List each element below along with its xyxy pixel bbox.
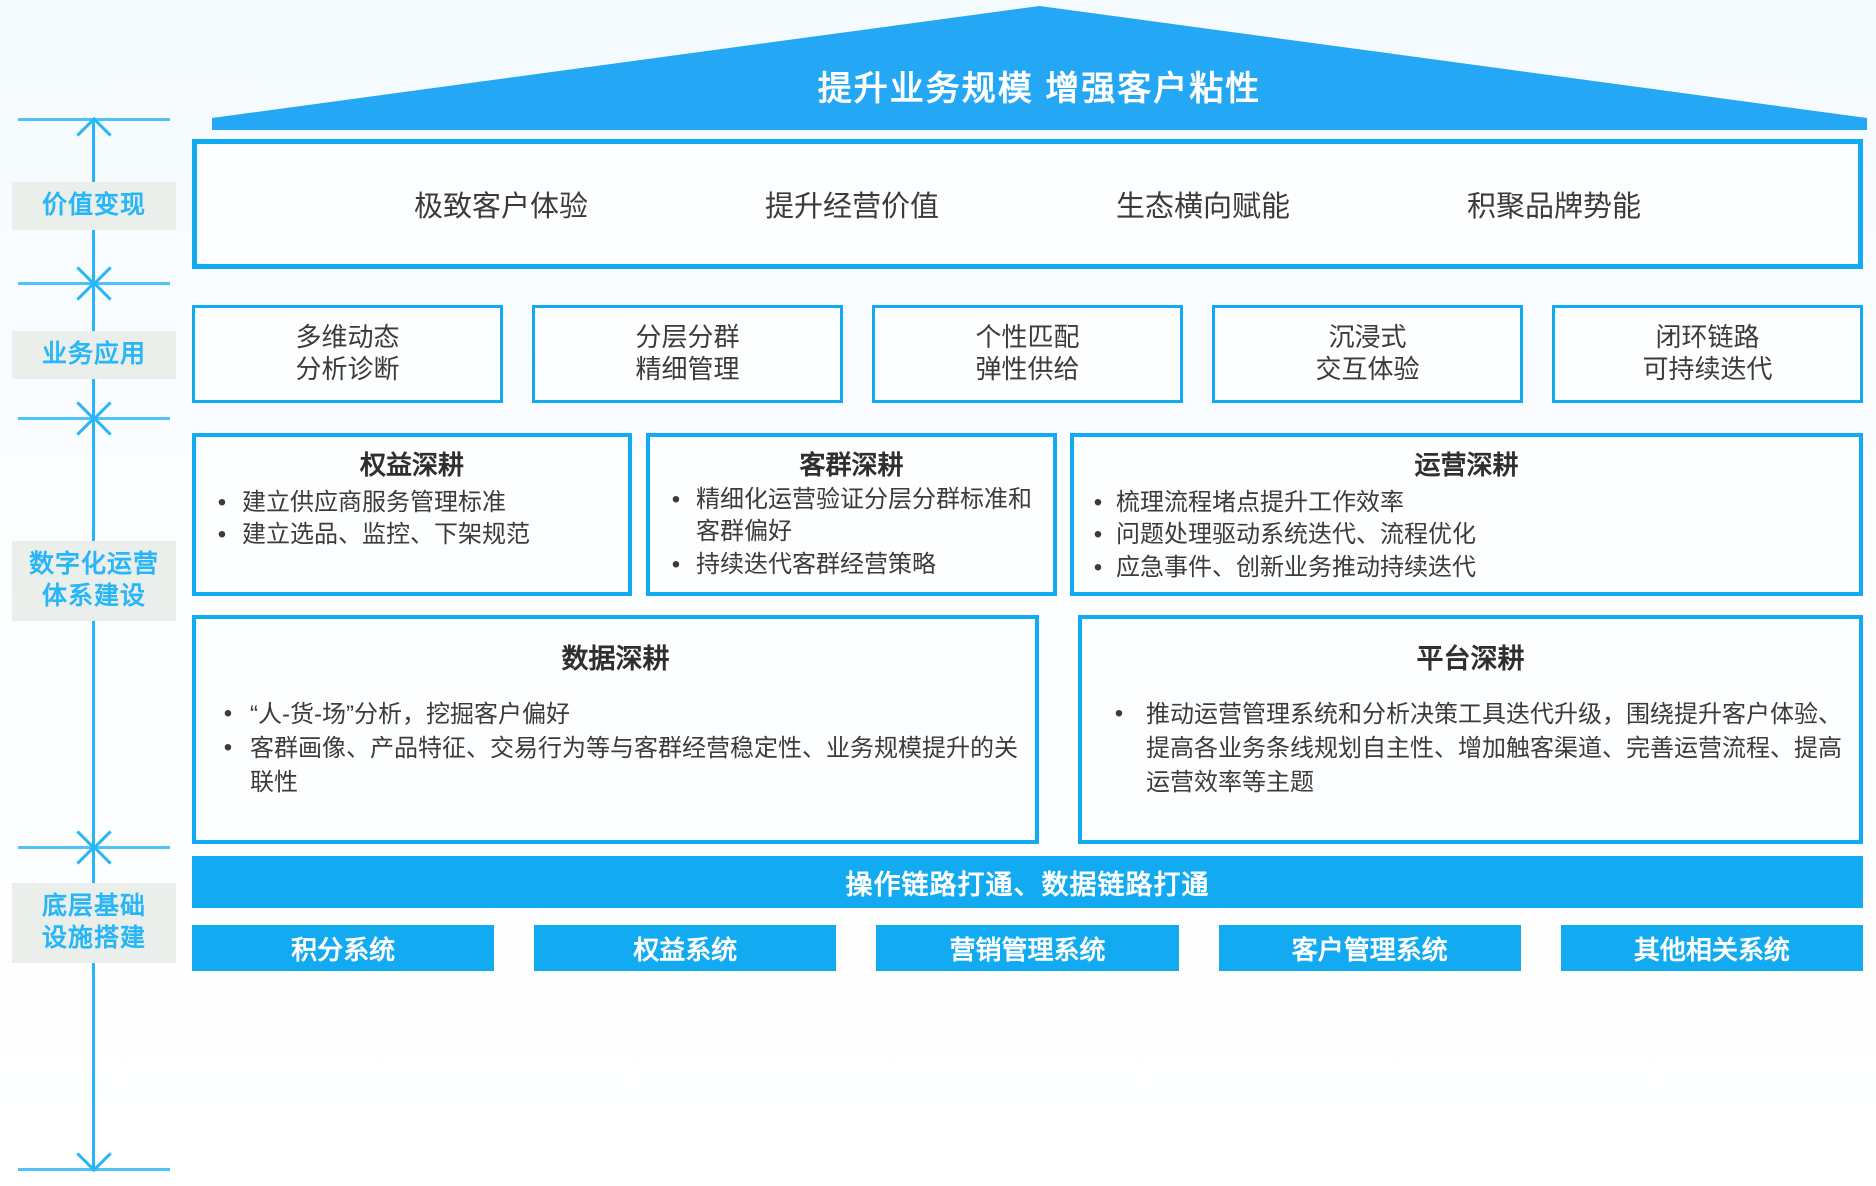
bullet-text: “人-货-场”分析，挖掘客户偏好 — [250, 698, 1025, 732]
app-box-line1: 个性匹配 — [975, 322, 1079, 354]
rail-tag-line: 业务应用 — [14, 338, 174, 370]
bullet-dot: • — [656, 549, 696, 581]
app-box-line2: 分析诊断 — [295, 354, 399, 386]
bullet-text: 客群画像、产品特征、交易行为等与客群经营稳定性、业务规模提升的关联性 — [250, 732, 1025, 800]
app-box-line1: 分层分群 — [635, 322, 739, 354]
left-rail: 价值变现 业务应用 数字化运营 体系建设 底层基础 设施搭建 — [0, 0, 186, 1186]
rail-tag-business-application[interactable]: 业务应用 — [12, 331, 176, 379]
bullet-item: • 精细化运营验证分层分群标准和客群偏好 — [656, 484, 1047, 549]
bullet-text: 建立选品、监控、下架规范 — [242, 519, 622, 551]
rail-arrow-up-4 — [72, 850, 116, 876]
rail-tag-line: 价值变现 — [14, 189, 174, 221]
system-box-rights[interactable]: 权益系统 — [534, 925, 836, 971]
app-box-line2: 可持续迭代 — [1642, 354, 1772, 386]
deep-box-title: 客群深耕 — [656, 445, 1047, 482]
app-box-closed-loop[interactable]: 闭环链路 可持续迭代 — [1552, 305, 1863, 403]
main-column: 极致客户体验 提升经营价值 生态横向赋能 积聚品牌势能 多维动态 分析诊断 分层… — [186, 0, 1876, 1186]
bullet-dot: • — [1080, 552, 1116, 584]
app-box-multi-dim-analysis[interactable]: 多维动态 分析诊断 — [192, 305, 503, 403]
system-box-points[interactable]: 积分系统 — [192, 925, 494, 971]
rail-arrow-up-2 — [72, 286, 116, 312]
bullet-item: • 建立供应商服务管理标准 — [202, 487, 622, 519]
app-box-immersive-experience[interactable]: 沉浸式 交互体验 — [1212, 305, 1523, 403]
app-box-line2: 交互体验 — [1315, 354, 1419, 386]
deep-box-title: 数据深耕 — [206, 637, 1025, 676]
rail-arrow-down-1 — [72, 254, 116, 280]
bullet-dot: • — [202, 487, 242, 519]
rail-arrow-down-4 — [72, 1140, 116, 1166]
link-through-bar[interactable]: 操作链路打通、数据链路打通 — [192, 856, 1863, 908]
bullet-dot: • — [1092, 698, 1146, 730]
app-box-personalized-matching[interactable]: 个性匹配 弹性供给 — [872, 305, 1183, 403]
bullet-text: 梳理流程堵点提升工作效率 — [1116, 487, 1853, 519]
bullet-text: 持续迭代客群经营策略 — [696, 549, 1047, 581]
app-box-segmentation[interactable]: 分层分群 精细管理 — [532, 305, 843, 403]
deep-box-operations[interactable]: 运营深耕 • 梳理流程堵点提升工作效率 • 问题处理驱动系统迭代、流程优化 • … — [1070, 433, 1863, 596]
bullet-dot: • — [656, 484, 696, 516]
business-application-row: 多维动态 分析诊断 分层分群 精细管理 个性匹配 弹性供给 沉浸式 交互体验 闭… — [192, 305, 1863, 403]
deep-box-rights[interactable]: 权益深耕 • 建立供应商服务管理标准 • 建立选品、监控、下架规范 — [192, 433, 632, 596]
deep-box-bullets: • 建立供应商服务管理标准 • 建立选品、监控、下架规范 — [202, 487, 622, 552]
bullet-item: • 应急事件、创新业务推动持续迭代 — [1080, 552, 1853, 584]
rail-tag-line: 数字化运营 — [14, 548, 174, 580]
rail-tag-line: 体系建设 — [14, 580, 174, 612]
deep-box-bullets: • 推动运营管理系统和分析决策工具迭代升级，围绕提升客户体验、提高各业务条线规划… — [1092, 698, 1849, 800]
app-box-line2: 弹性供给 — [975, 354, 1079, 386]
rail-tag-line: 设施搭建 — [14, 922, 174, 954]
deep-box-bullets: • 精细化运营验证分层分群标准和客群偏好 • 持续迭代客群经营策略 — [656, 484, 1047, 581]
deep-box-bullets: • 梳理流程堵点提升工作效率 • 问题处理驱动系统迭代、流程优化 • 应急事件、… — [1080, 487, 1853, 584]
rail-tag-digital-operations[interactable]: 数字化运营 体系建设 — [12, 541, 176, 621]
deep-box-title: 平台深耕 — [1092, 637, 1849, 676]
diagram-canvas: 提升业务规模 增强客户粘性 价值变现 业务应用 数字化运营 体系建设 底 — [0, 0, 1876, 1186]
system-row: 积分系统 权益系统 营销管理系统 客户管理系统 其他相关系统 — [192, 925, 1863, 971]
value-item[interactable]: 极致客户体验 — [414, 183, 588, 225]
deep-box-title: 权益深耕 — [202, 445, 622, 482]
bullet-text: 建立供应商服务管理标准 — [242, 487, 622, 519]
deep-cultivation-row-1: 权益深耕 • 建立供应商服务管理标准 • 建立选品、监控、下架规范 客群深耕 — [192, 433, 1863, 596]
system-box-customer[interactable]: 客户管理系统 — [1219, 925, 1521, 971]
system-box-marketing[interactable]: 营销管理系统 — [876, 925, 1178, 971]
app-box-line1: 多维动态 — [295, 322, 399, 354]
rail-tag-value-realization[interactable]: 价值变现 — [12, 182, 176, 230]
bullet-text: 问题处理驱动系统迭代、流程优化 — [1116, 519, 1853, 551]
app-box-line1: 闭环链路 — [1655, 322, 1759, 354]
deep-box-bullets: • “人-货-场”分析，挖掘客户偏好 • 客群画像、产品特征、交易行为等与客群经… — [206, 698, 1025, 800]
bullet-item: • “人-货-场”分析，挖掘客户偏好 — [206, 698, 1025, 732]
bullet-item: • 持续迭代客群经营策略 — [656, 549, 1047, 581]
bullet-text: 应急事件、创新业务推动持续迭代 — [1116, 552, 1853, 584]
value-realization-band: 极致客户体验 提升经营价值 生态横向赋能 积聚品牌势能 — [192, 139, 1863, 269]
bullet-dot: • — [1080, 519, 1116, 551]
bullet-item: • 梳理流程堵点提升工作效率 — [1080, 487, 1853, 519]
system-box-other[interactable]: 其他相关系统 — [1561, 925, 1863, 971]
bullet-dot: • — [202, 519, 242, 551]
deep-box-data[interactable]: 数据深耕 • “人-货-场”分析，挖掘客户偏好 • 客群画像、产品特征、交易行为… — [192, 615, 1039, 844]
deep-cultivation-row-2: 数据深耕 • “人-货-场”分析，挖掘客户偏好 • 客群画像、产品特征、交易行为… — [192, 615, 1863, 844]
bullet-dot: • — [1080, 487, 1116, 519]
app-box-line2: 精细管理 — [635, 354, 739, 386]
rail-tag-infrastructure[interactable]: 底层基础 设施搭建 — [12, 883, 176, 963]
bullet-text: 精细化运营验证分层分群标准和客群偏好 — [696, 484, 1047, 549]
deep-box-customer-group[interactable]: 客群深耕 • 精细化运营验证分层分群标准和客群偏好 • 持续迭代客群经营策略 — [646, 433, 1057, 596]
bullet-text: 推动运营管理系统和分析决策工具迭代升级，围绕提升客户体验、提高各业务条线规划自主… — [1146, 698, 1849, 800]
rail-arrow-down-3 — [72, 818, 116, 844]
value-item[interactable]: 生态横向赋能 — [1116, 183, 1290, 225]
bullet-dot: • — [206, 732, 250, 764]
deep-box-title: 运营深耕 — [1080, 445, 1853, 482]
bullet-item: • 客群画像、产品特征、交易行为等与客群经营稳定性、业务规模提升的关联性 — [206, 732, 1025, 800]
value-item[interactable]: 提升经营价值 — [765, 183, 939, 225]
rail-tag-line: 底层基础 — [14, 890, 174, 922]
rail-stem-3 — [92, 419, 95, 846]
rail-arrow-up-3 — [72, 421, 116, 447]
deep-box-platform[interactable]: 平台深耕 • 推动运营管理系统和分析决策工具迭代升级，围绕提升客户体验、提高各业… — [1078, 615, 1863, 844]
bullet-item: • 建立选品、监控、下架规范 — [202, 519, 622, 551]
rail-arrow-up-1 — [72, 122, 116, 148]
value-items: 极致客户体验 提升经营价值 生态横向赋能 积聚品牌势能 — [197, 183, 1858, 225]
bullet-item: • 推动运营管理系统和分析决策工具迭代升级，围绕提升客户体验、提高各业务条线规划… — [1092, 698, 1849, 800]
bullet-dot: • — [206, 698, 250, 730]
rail-arrow-down-2 — [72, 389, 116, 415]
app-box-line1: 沉浸式 — [1328, 322, 1406, 354]
value-item[interactable]: 积聚品牌势能 — [1467, 183, 1641, 225]
bullet-item: • 问题处理驱动系统迭代、流程优化 — [1080, 519, 1853, 551]
